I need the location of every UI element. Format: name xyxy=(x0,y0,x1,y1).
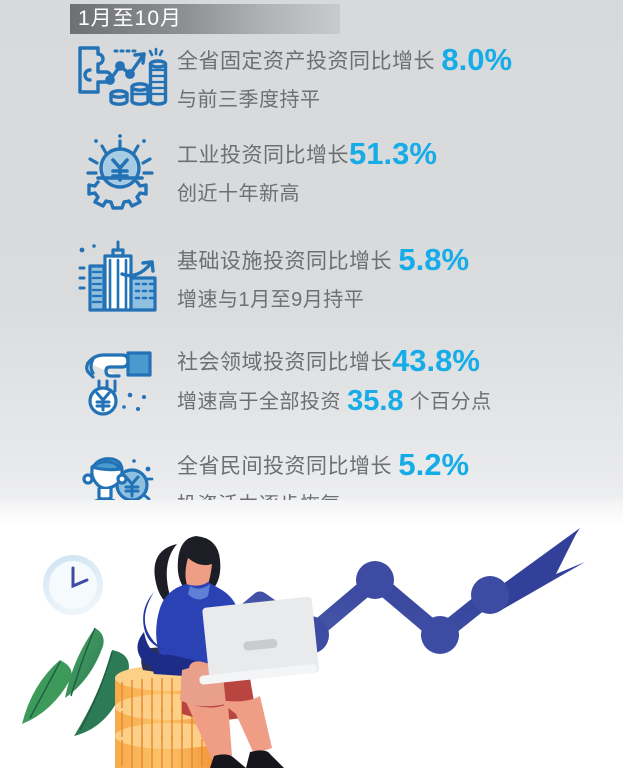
stat-row-industrial-investment: 工业投资同比增长51.3% 创近十年新高 xyxy=(62,132,622,212)
stat-text-block: 基础设施投资同比增长 5.8% 增速与1月至9月持平 xyxy=(177,238,622,318)
puzzle-chart-coins-icon xyxy=(62,38,177,110)
headline-label: 全省固定资产投资同比增长 xyxy=(177,50,441,73)
subline-value: 35.8 xyxy=(347,385,403,417)
gear-yuan-icon xyxy=(62,132,177,212)
headline-value: 5.8% xyxy=(398,242,469,277)
stat-subline: 与前三季度持平 xyxy=(177,82,622,118)
infographic-page: 1月至10月 xyxy=(0,0,623,768)
stat-headline: 全省民间投资同比增长 5.2% xyxy=(177,445,622,487)
headline-label: 基础设施投资同比增长 xyxy=(177,250,398,273)
page-title: 1月至10月 xyxy=(78,5,182,33)
subline-suffix: 个百分点 xyxy=(404,391,492,413)
clock-icon xyxy=(43,555,103,615)
woman-on-coins-growth-arrow-illustration xyxy=(0,500,623,768)
headline-value: 5.2% xyxy=(398,447,469,482)
stat-subline: 增速与1月至9月持平 xyxy=(177,282,622,318)
hand-coin-icon xyxy=(62,339,177,419)
subline-label: 增速与1月至9月持平 xyxy=(177,289,364,311)
stat-subline: 增速高于全部投资 35.8 个百分点 xyxy=(177,383,622,420)
headline-label: 社会领域投资同比增长 xyxy=(177,351,392,374)
stat-headline: 基础设施投资同比增长 5.8% xyxy=(177,240,622,282)
stat-headline: 全省固定资产投资同比增长 8.0% xyxy=(177,40,622,82)
stat-row-infrastructure-investment: 基础设施投资同比增长 5.8% 增速与1月至9月持平 xyxy=(62,238,622,318)
headline-label: 工业投资同比增长 xyxy=(177,144,349,167)
subline-label: 创近十年新高 xyxy=(177,183,300,205)
subline-label: 增速高于全部投资 xyxy=(177,391,347,413)
subline-label: 与前三季度持平 xyxy=(177,89,321,111)
stat-text-block: 全省固定资产投资同比增长 8.0% 与前三季度持平 xyxy=(177,38,622,118)
stat-text-block: 工业投资同比增长51.3% 创近十年新高 xyxy=(177,132,622,212)
headline-value: 51.3% xyxy=(349,136,437,171)
stat-subline: 创近十年新高 xyxy=(177,176,622,212)
stat-headline: 工业投资同比增长51.3% xyxy=(177,134,622,176)
stat-row-social-investment: 社会领域投资同比增长43.8% 增速高于全部投资 35.8 个百分点 xyxy=(62,339,622,420)
headline-value: 43.8% xyxy=(392,343,480,378)
stat-headline: 社会领域投资同比增长43.8% xyxy=(177,341,622,383)
stat-text-block: 社会领域投资同比增长43.8% 增速高于全部投资 35.8 个百分点 xyxy=(177,339,622,420)
headline-label: 全省民间投资同比增长 xyxy=(177,455,398,478)
buildings-arrow-icon xyxy=(62,238,177,318)
headline-value: 8.0% xyxy=(441,42,512,77)
stat-row-fixed-asset-investment: 全省固定资产投资同比增长 8.0% 与前三季度持平 xyxy=(62,38,622,118)
